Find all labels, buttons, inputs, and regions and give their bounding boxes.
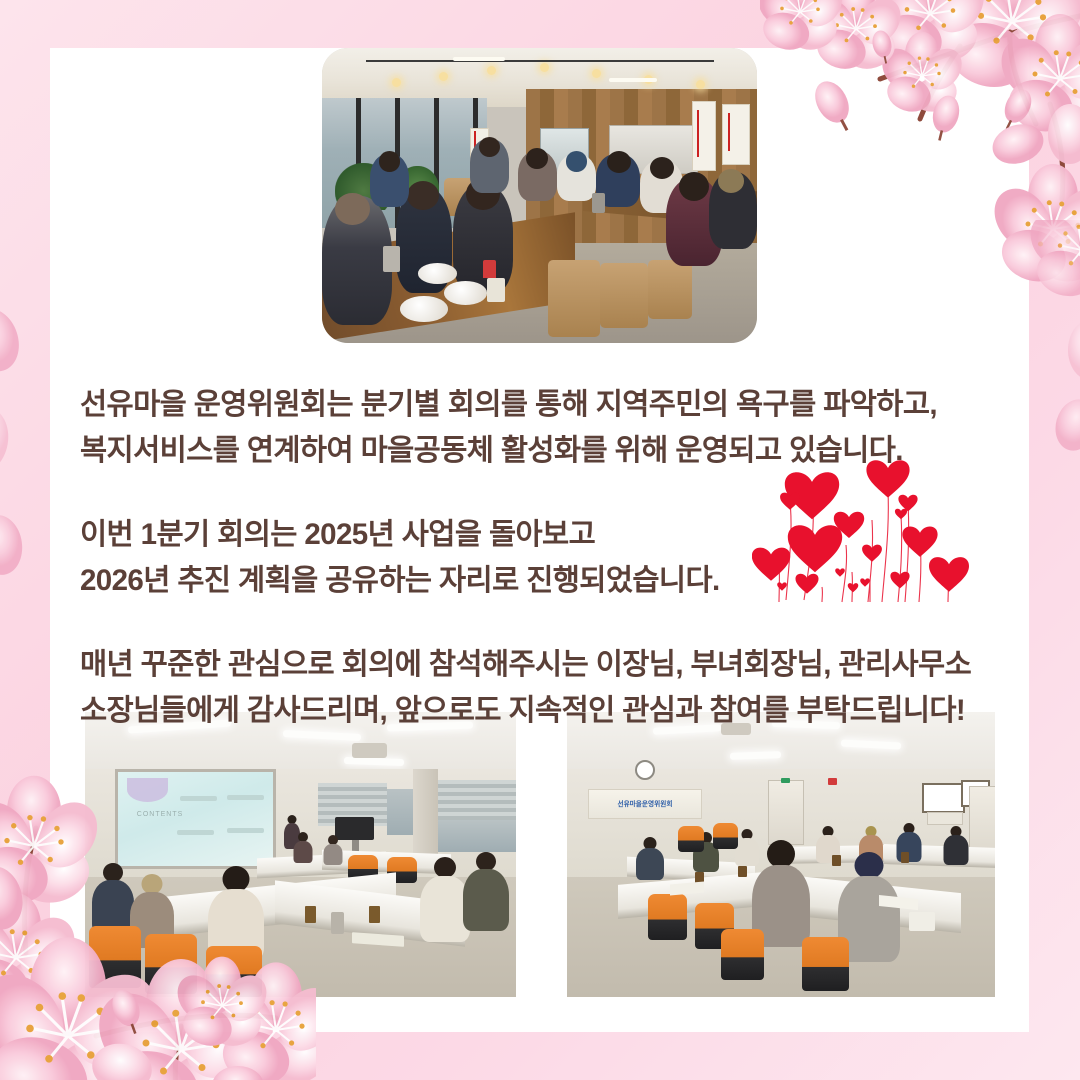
heart-balloons-decoration <box>752 440 992 605</box>
content-card: CONTENTS <box>50 48 1029 1032</box>
slide-contents-label: CONTENTS <box>137 811 184 818</box>
projection-screen: CONTENTS <box>115 769 276 869</box>
restaurant-meal-photo <box>322 48 757 343</box>
committee-banner: 선유마을운영위원회 <box>588 789 701 820</box>
poster-root: CONTENTS <box>0 0 1080 1080</box>
paragraph-thanks: 매년 꾸준한 관심으로 회의에 참석해주시는 이장님, 부녀회장님, 관리사무소… <box>80 642 1000 734</box>
committee-banner-text: 선유마을운영위원회 <box>617 799 672 809</box>
